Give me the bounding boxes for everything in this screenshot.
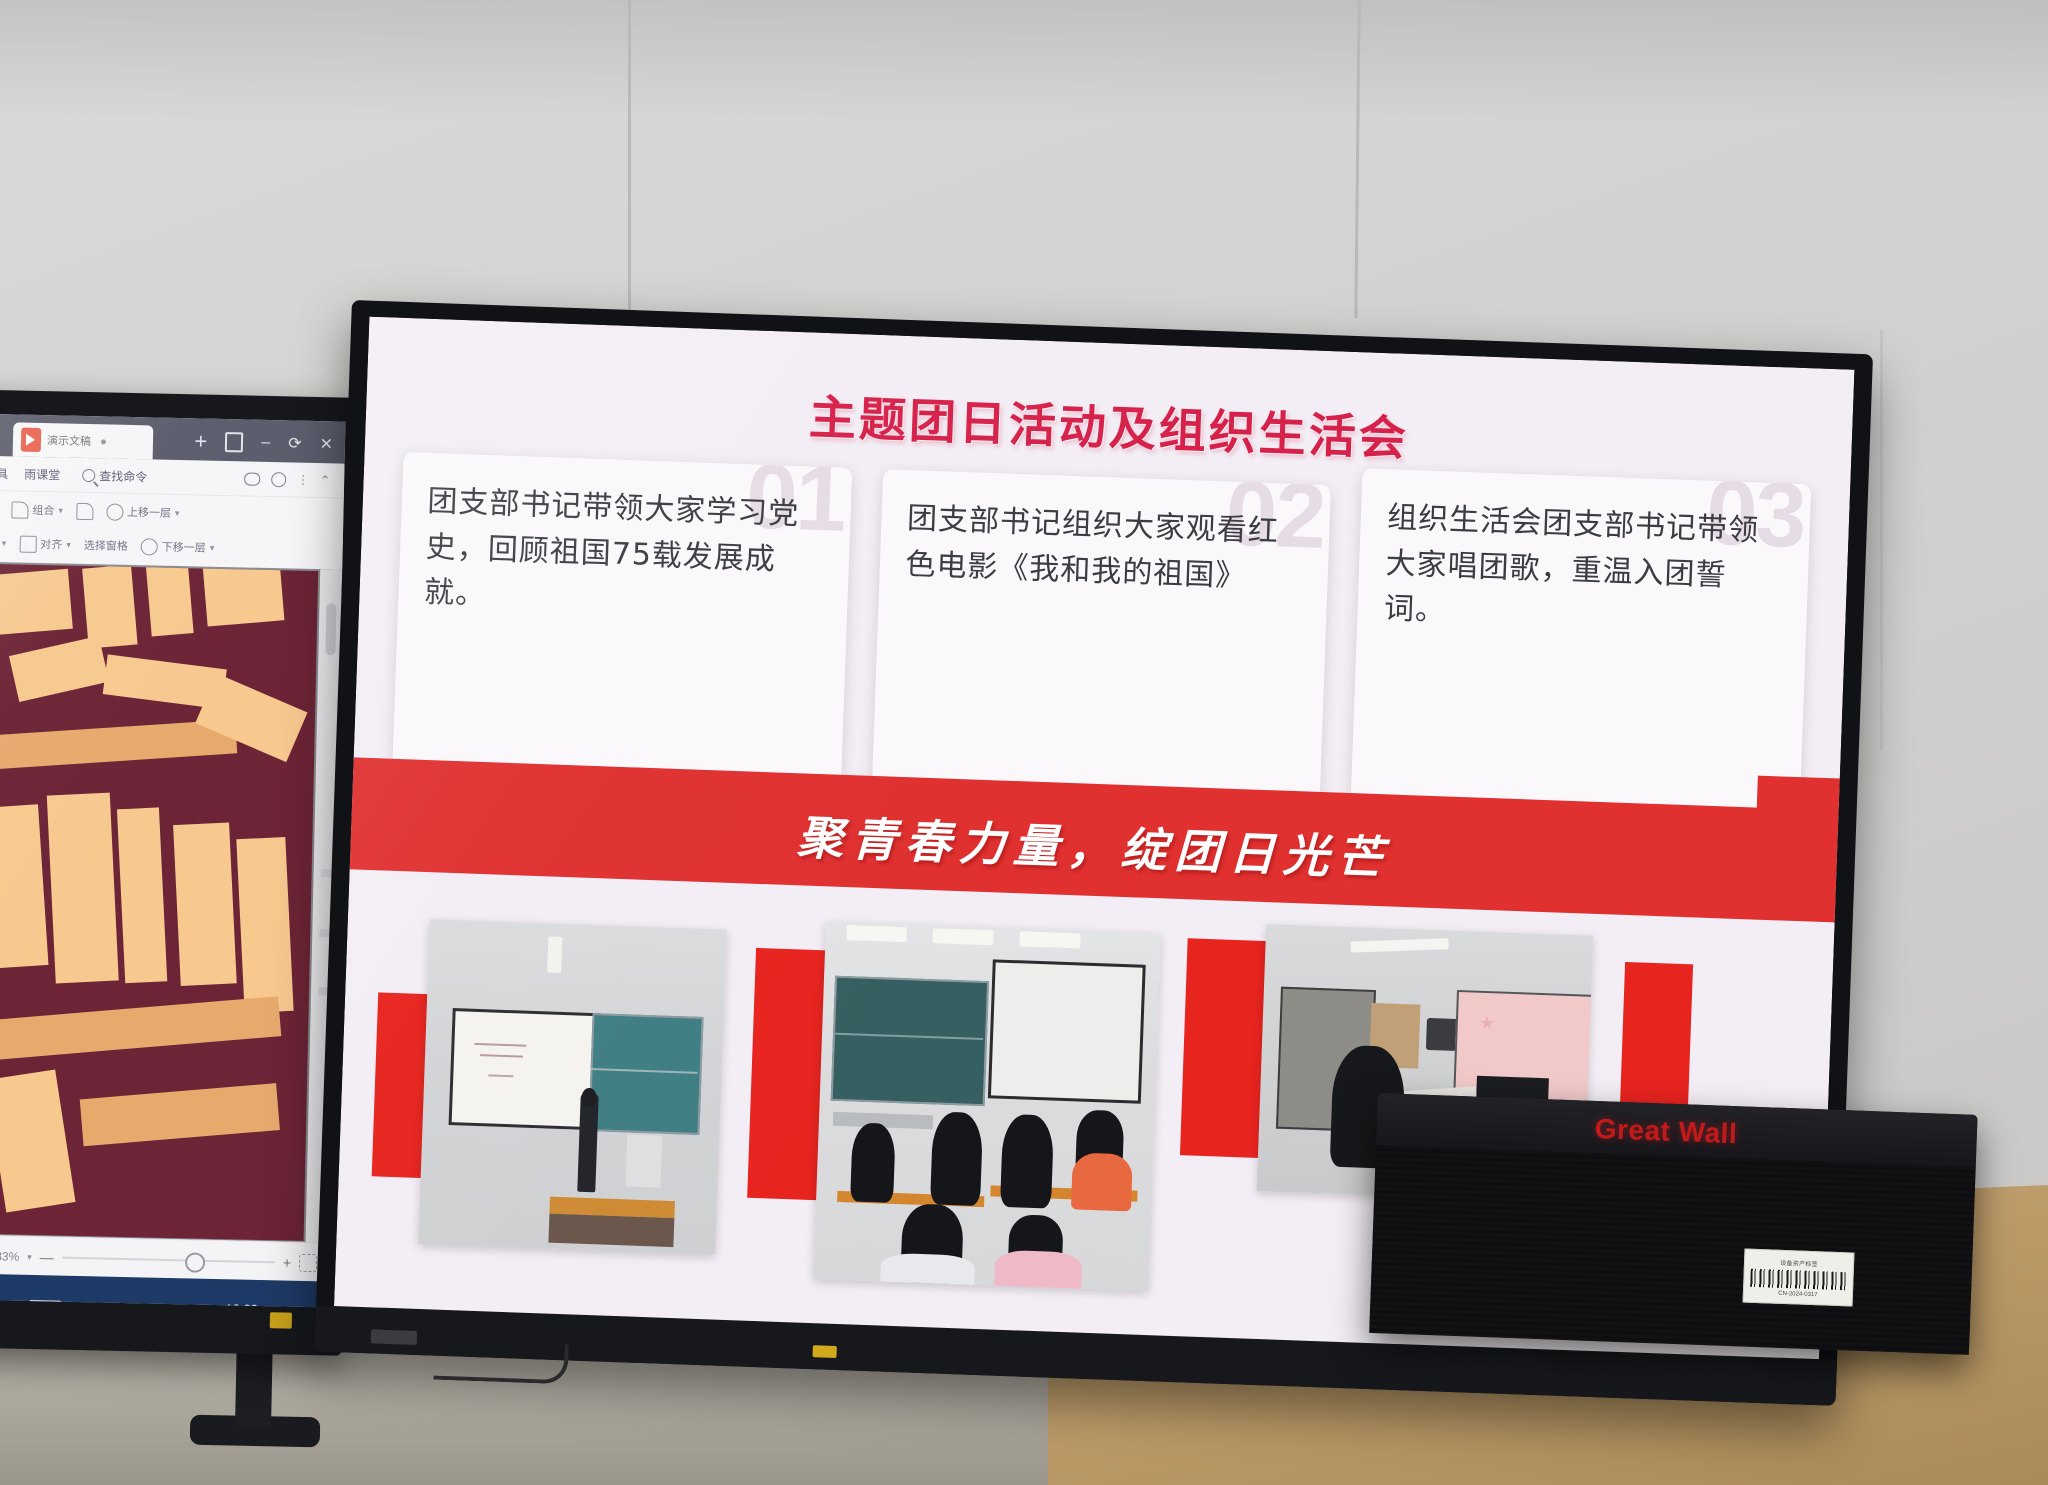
photo2-blackboard xyxy=(830,975,989,1106)
ceiling-shadow xyxy=(0,0,2048,120)
wall-seam-far xyxy=(1880,330,1883,750)
left-monitor-screen[interactable]: 演示文稿 + – ⟳ ✕ 工具 雨课堂 查找命令 xyxy=(0,414,345,1308)
great-wall-brand-logo: Great Wall xyxy=(1594,1113,1738,1150)
keyboard-icon[interactable] xyxy=(28,1300,62,1308)
photo2-student-6-shirt xyxy=(994,1250,1082,1291)
zoom-out-button[interactable]: — xyxy=(40,1249,54,1265)
tv-power-led xyxy=(812,1345,836,1358)
window-controls: + – ⟳ ✕ xyxy=(182,430,345,464)
group-button[interactable]: 组合 ▾ xyxy=(11,501,63,519)
wps-titlebar: 演示文稿 + – ⟳ ✕ xyxy=(0,414,345,464)
photo1-projection-screen xyxy=(449,1008,602,1130)
bring-forward-icon xyxy=(106,503,123,520)
great-wall-device: Great Wall 设备资产标签 CN-2024-0317 xyxy=(1369,1093,1977,1355)
send-backward-button[interactable]: 下移一层 ▾ xyxy=(141,538,215,557)
zoom-slider-knob[interactable] xyxy=(185,1252,205,1272)
send-backward-icon xyxy=(141,538,158,555)
slide-card-3[interactable]: 03 组织生活会团支部书记带领大家唱团歌，重温入团誓词。 xyxy=(1351,468,1812,829)
asset-label-title: 设备资产标签 xyxy=(1780,1257,1818,1267)
selection-pane-label: 选择窗格 xyxy=(84,537,128,554)
menu-right-icons: ⋮ ⌃ xyxy=(244,471,336,488)
misc-tool[interactable]: ▾ xyxy=(0,534,6,552)
photo3-light xyxy=(1351,938,1449,952)
photo1-desk-body xyxy=(549,1213,675,1247)
search-placeholder-text: 查找命令 xyxy=(99,467,147,485)
scroll-mark-a xyxy=(321,869,332,877)
gear-icon[interactable] xyxy=(271,472,286,487)
barcode-icon xyxy=(1751,1268,1847,1289)
left-monitor: 演示文稿 + – ⟳ ✕ 工具 雨课堂 查找命令 xyxy=(0,389,362,1355)
photo3-flag-star-icon: ★ xyxy=(1479,1015,1496,1032)
wps-presentation-icon xyxy=(21,428,42,452)
wps-document-tab[interactable]: 演示文稿 xyxy=(13,422,154,459)
sogou-icon[interactable] xyxy=(110,1303,130,1308)
photo2-student-3 xyxy=(1000,1114,1053,1209)
send-backward-label: 下移一层 xyxy=(162,539,206,556)
slide-photo-1 xyxy=(418,920,727,1255)
slide-carved-characters-image xyxy=(0,563,318,1241)
tv-cable xyxy=(433,1340,568,1385)
shape-tool[interactable] xyxy=(76,502,93,519)
unsaved-dot-icon xyxy=(101,439,106,444)
menu-item-tools[interactable]: 工具 xyxy=(0,464,8,482)
bring-forward-button[interactable]: 上移一层 ▾ xyxy=(106,503,180,522)
group-label: 组合 xyxy=(32,502,54,518)
new-tab-icon[interactable]: + xyxy=(194,430,207,452)
photo2-student-1 xyxy=(850,1123,896,1203)
group-icon xyxy=(11,501,28,518)
asset-label: 设备资产标签 CN-2024-0317 xyxy=(1743,1249,1855,1307)
asset-label-number: CN-2024-0317 xyxy=(1778,1290,1818,1297)
card-text-1: 团支部书记带领大家学习党史，回顾祖国75载发展成就。 xyxy=(424,484,800,612)
window-icon[interactable] xyxy=(225,432,243,452)
screenshot-stage: 演示文稿 + – ⟳ ✕ 工具 雨课堂 查找命令 xyxy=(0,0,2048,1485)
photo1-podium xyxy=(625,1135,662,1188)
zoom-slider[interactable] xyxy=(62,1257,275,1264)
wps-slide-canvas[interactable] xyxy=(0,562,342,1244)
search-icon xyxy=(82,468,95,481)
great-wall-grill xyxy=(1369,1145,1975,1355)
search-command-box[interactable]: 查找命令 xyxy=(82,466,147,484)
left-monitor-power-led xyxy=(270,1312,292,1328)
ribbon-row-bottom: ▾ 对齐 ▾ 选择窗格 下移一层 ▾ xyxy=(0,529,337,565)
card-text-3: 组织生活会团支部书记带领大家唱团歌，重温入团誓词。 xyxy=(1383,500,1759,628)
clock-time: 13:23 xyxy=(225,1302,258,1308)
restore-icon[interactable]: ⟳ xyxy=(288,433,302,453)
notification-icon[interactable] xyxy=(292,1307,314,1308)
bring-forward-label: 上移一层 xyxy=(127,504,171,521)
ribbon-row-top: 组合 ▾ 上移一层 ▾ xyxy=(0,495,338,531)
align-button[interactable]: 对齐 ▾ xyxy=(19,535,71,553)
selection-pane-button[interactable]: 选择窗格 xyxy=(84,537,128,554)
slide-card-2[interactable]: 02 团支部书记组织大家观看红色电影《我和我的祖国》 xyxy=(871,469,1331,812)
photo2-light-a xyxy=(846,926,907,942)
slide-card-1[interactable]: 01 团支部书记带领大家学习党史，回顾祖国75载发展成就。 xyxy=(392,452,852,795)
zoom-in-button[interactable]: + xyxy=(283,1254,292,1270)
menu-item-rain-classroom[interactable]: 雨课堂 xyxy=(24,465,60,483)
align-icon xyxy=(19,535,36,552)
ime-indicator[interactable]: 中 xyxy=(78,1300,95,1307)
photo2-student-5-shirt xyxy=(880,1253,975,1291)
zoom-level-text[interactable]: 83% xyxy=(0,1249,19,1264)
tv-ir-sensor xyxy=(371,1329,417,1345)
photo2-light-b xyxy=(933,929,994,945)
photo2-student-4-jacket xyxy=(1071,1152,1133,1211)
chat-icon[interactable] xyxy=(244,472,260,485)
collapse-icon[interactable]: ⌃ xyxy=(320,473,330,487)
photo1-light xyxy=(547,937,563,973)
photo2-student-2 xyxy=(930,1111,983,1206)
photo1-blackboard xyxy=(589,1013,704,1135)
scrollbar-thumb[interactable] xyxy=(325,603,336,655)
zoom-dropdown-icon[interactable]: ▾ xyxy=(27,1251,32,1262)
more-icon[interactable]: ⋮ xyxy=(297,476,309,484)
photo2-light-c xyxy=(1020,932,1081,948)
minimize-icon[interactable]: – xyxy=(261,434,270,452)
card-text-2: 团支部书记组织大家观看红色电影《我和我的祖国》 xyxy=(905,501,1280,594)
photo1-presenter xyxy=(577,1094,598,1192)
wps-tab-title: 演示文稿 xyxy=(47,432,91,449)
close-icon[interactable]: ✕ xyxy=(319,434,333,454)
taskbar-clock[interactable]: 13:23 2025/3/27 xyxy=(217,1302,267,1308)
photo2-projection-screen xyxy=(988,959,1146,1103)
fit-to-window-icon[interactable] xyxy=(299,1254,317,1272)
align-label: 对齐 xyxy=(40,536,62,552)
slide-photo-2 xyxy=(814,921,1161,1291)
